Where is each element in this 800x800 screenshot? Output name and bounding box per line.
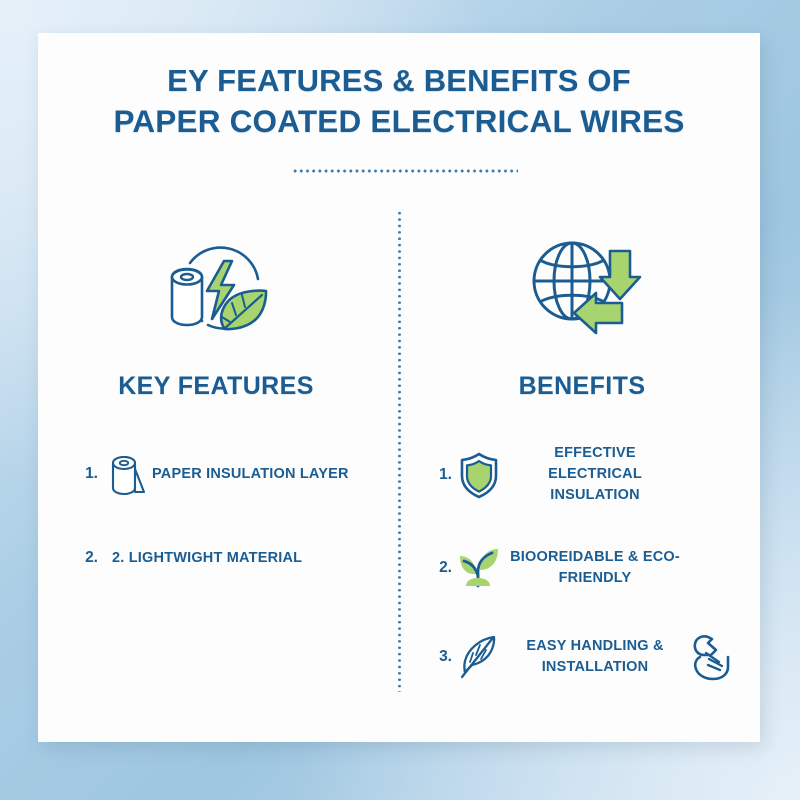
item-label: EASY HANDLING & INSTALLATION: [506, 636, 684, 678]
benefits-list: 1. EFFECTIVE ELECTRICAL INSULATION 2.: [422, 443, 758, 684]
list-item[interactable]: 3. EASY HANDLING & INSTALLATION: [422, 630, 758, 684]
page-title: EY FEATURES & BENEFITS OF PAPER COATED E…: [38, 60, 760, 142]
list-item[interactable]: 1. EFFECTIVE ELECTRICAL INSULATION: [422, 443, 758, 506]
item-label: EFFECTIVE ELECTRICAL INSULATION: [506, 443, 684, 506]
infographic-canvas: EY FEATURES & BENEFITS OF PAPER COATED E…: [0, 0, 800, 800]
hand-wrench-icon: [684, 631, 738, 683]
item-number: 2.: [422, 559, 452, 577]
column-dotted-divider: [398, 210, 401, 692]
title-line-2: PAPER COATED ELECTRICAL WIRES: [38, 101, 760, 142]
paper-roll-icon: [98, 451, 152, 497]
hero-paper-roll-bolt-leaf-icon: [40, 210, 392, 360]
item-label: BIOOREIDABLE & ECO-FRIENDLY: [506, 547, 684, 589]
title-dotted-rule: [292, 169, 518, 173]
title-line-1: EY FEATURES & BENEFITS OF: [38, 60, 760, 101]
heading-key-features: KEY FEATURES: [40, 372, 392, 401]
hero-globe-arrows-icon: [406, 210, 758, 360]
item-label: 2. LIGHTWIGHT MATERIAL: [112, 548, 302, 569]
list-item[interactable]: 1. PAPER INSULATION LAYER: [68, 447, 392, 501]
sprout-icon: [452, 544, 506, 592]
shield-icon: [452, 450, 506, 500]
content-card: EY FEATURES & BENEFITS OF PAPER COATED E…: [38, 33, 760, 742]
column-key-features: KEY FEATURES 1. PAPER INSULATION LAYER: [40, 210, 392, 601]
item-number: 2.: [68, 549, 98, 567]
heading-benefits: BENEFITS: [406, 372, 758, 401]
list-item[interactable]: 2. BIOOREIDABLE & ECO-FRIENDLY: [422, 541, 758, 595]
key-features-list: 1. PAPER INSULATION LAYER 2. 2.: [68, 447, 392, 585]
column-benefits: BENEFITS 1. EFFECTIVE ELECTRICAL INSULAT…: [406, 210, 758, 700]
item-number: 1.: [422, 466, 452, 484]
item-number: 3.: [422, 648, 452, 666]
feather-icon: [452, 631, 506, 683]
list-item[interactable]: 2. 2. LIGHTWIGHT MATERIAL: [68, 531, 392, 585]
item-number: 1.: [68, 465, 98, 483]
item-label: PAPER INSULATION LAYER: [152, 464, 349, 485]
